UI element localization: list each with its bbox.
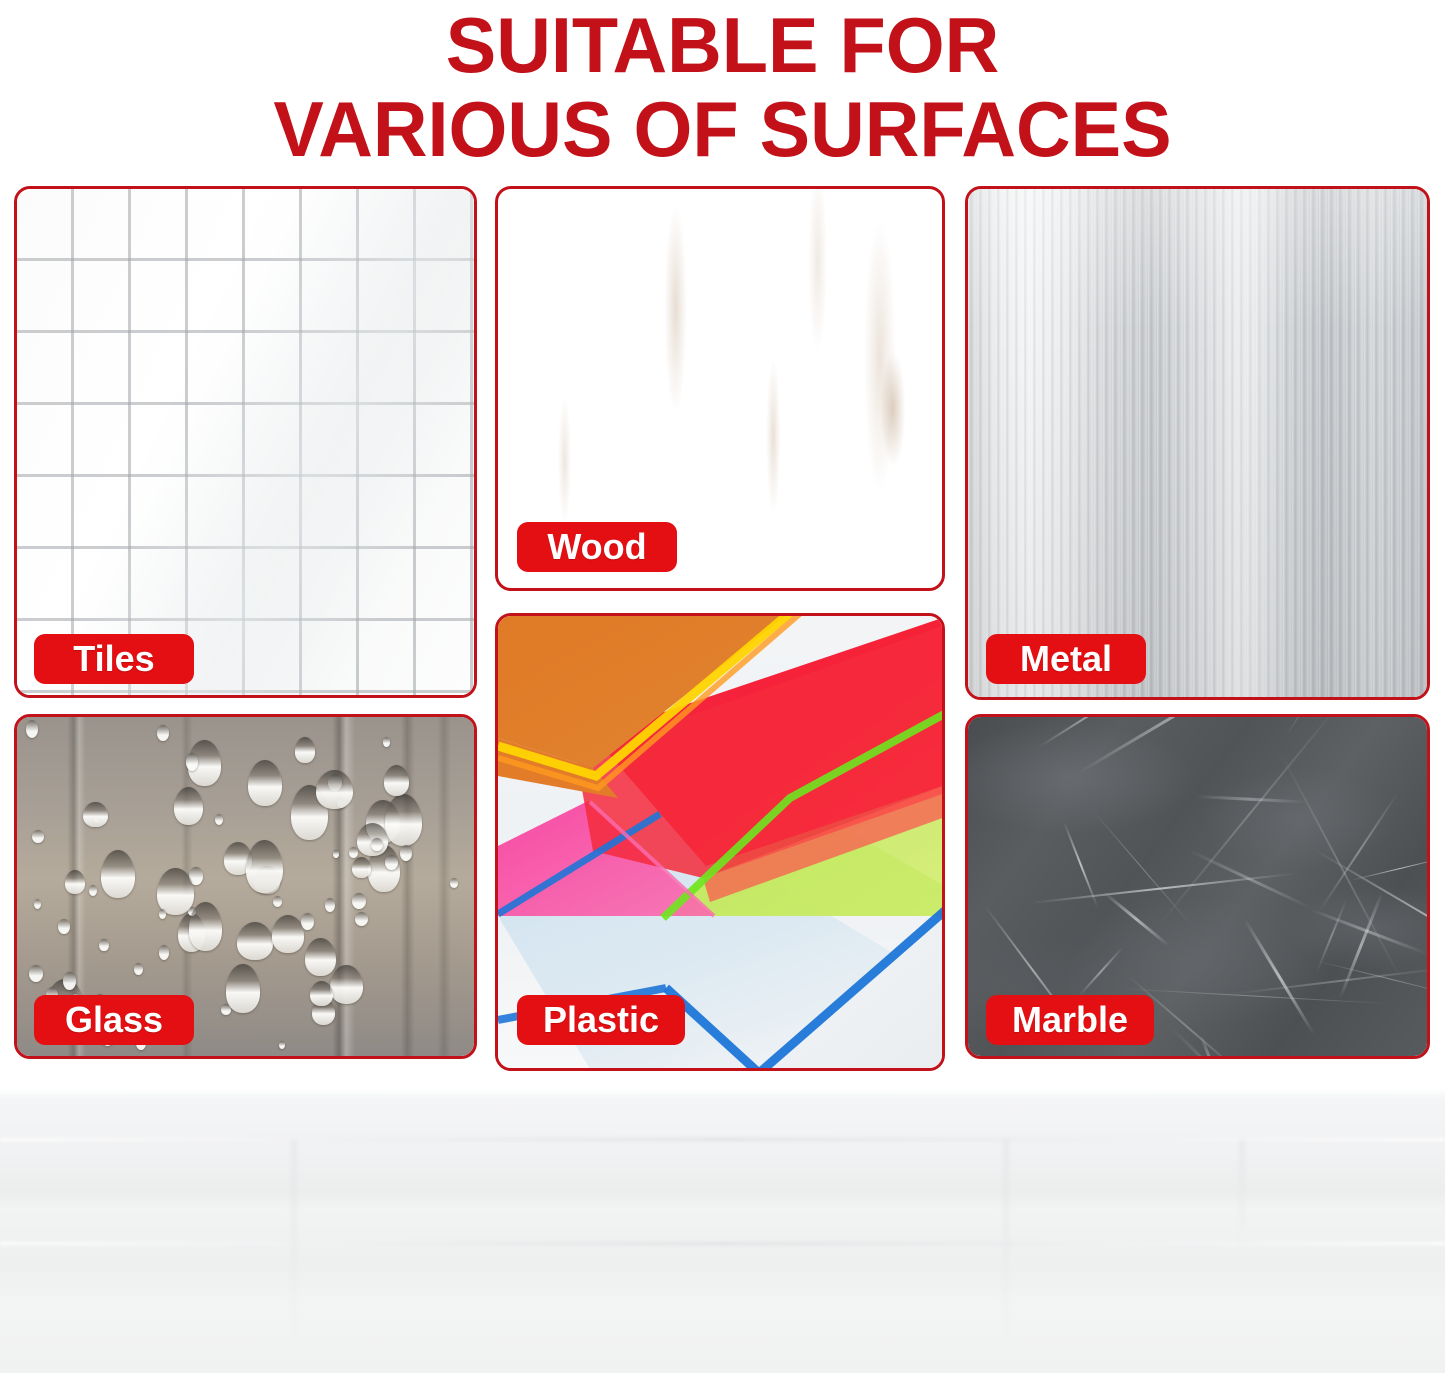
- surface-panel-metal: [965, 186, 1430, 700]
- bottom-blurred-surface: [0, 1090, 1445, 1373]
- water-droplet: [450, 878, 458, 888]
- water-droplet: [99, 939, 108, 952]
- water-droplet: [189, 902, 222, 950]
- water-droplet: [385, 794, 421, 845]
- water-droplet: [272, 915, 305, 953]
- water-droplet: [159, 945, 169, 960]
- water-droplet: [273, 896, 282, 907]
- water-droplet: [174, 787, 203, 825]
- panel-label-glass: Glass: [34, 995, 194, 1045]
- wood-knot: [880, 349, 906, 469]
- tiles-sheen-overlay: [17, 189, 474, 695]
- bottom-grout-2: [1004, 1140, 1008, 1340]
- bottom-grout-3: [1240, 1140, 1244, 1250]
- panel-label-metal: Metal: [986, 634, 1146, 684]
- bottom-seam-2: [0, 1242, 1445, 1245]
- water-droplet: [305, 938, 336, 976]
- water-droplet: [295, 737, 316, 764]
- surface-panel-grid: Tiles Wood Metal Glass: [0, 0, 1445, 1080]
- water-droplet: [246, 840, 282, 893]
- water-droplet: [58, 919, 70, 934]
- surface-panel-tiles: [14, 186, 477, 698]
- water-droplet: [226, 964, 260, 1013]
- panel-label-wood: Wood: [517, 522, 677, 572]
- water-droplet: [101, 850, 135, 898]
- water-droplet: [32, 830, 44, 843]
- water-droplet: [65, 870, 85, 894]
- bottom-grout-1: [292, 1140, 296, 1340]
- water-droplet: [355, 912, 368, 926]
- water-droplet: [186, 753, 198, 771]
- panel-label-marble: Marble: [986, 995, 1154, 1045]
- water-droplet: [384, 765, 409, 796]
- water-droplet: [248, 760, 282, 806]
- water-droplet: [352, 857, 370, 878]
- water-droplet: [310, 981, 332, 1006]
- water-droplet: [237, 922, 273, 960]
- water-droplet: [157, 868, 194, 915]
- water-droplet: [159, 909, 166, 919]
- water-droplet: [349, 847, 358, 858]
- water-droplet: [63, 972, 76, 990]
- panel-label-tiles: Tiles: [34, 634, 194, 684]
- water-droplet: [385, 855, 398, 870]
- water-droplet: [26, 720, 38, 738]
- water-droplet: [83, 802, 107, 828]
- bottom-seam-1: [0, 1138, 1445, 1141]
- water-droplet: [333, 850, 338, 858]
- water-droplet: [400, 845, 412, 861]
- water-droplet: [301, 913, 314, 930]
- water-droplet: [316, 770, 353, 810]
- panel-label-plastic: Plastic: [517, 995, 685, 1045]
- water-droplet: [330, 965, 363, 1004]
- water-droplet: [29, 965, 43, 982]
- water-droplet: [89, 885, 97, 896]
- water-droplet: [352, 893, 366, 909]
- metal-sheen-overlay: [968, 189, 1427, 697]
